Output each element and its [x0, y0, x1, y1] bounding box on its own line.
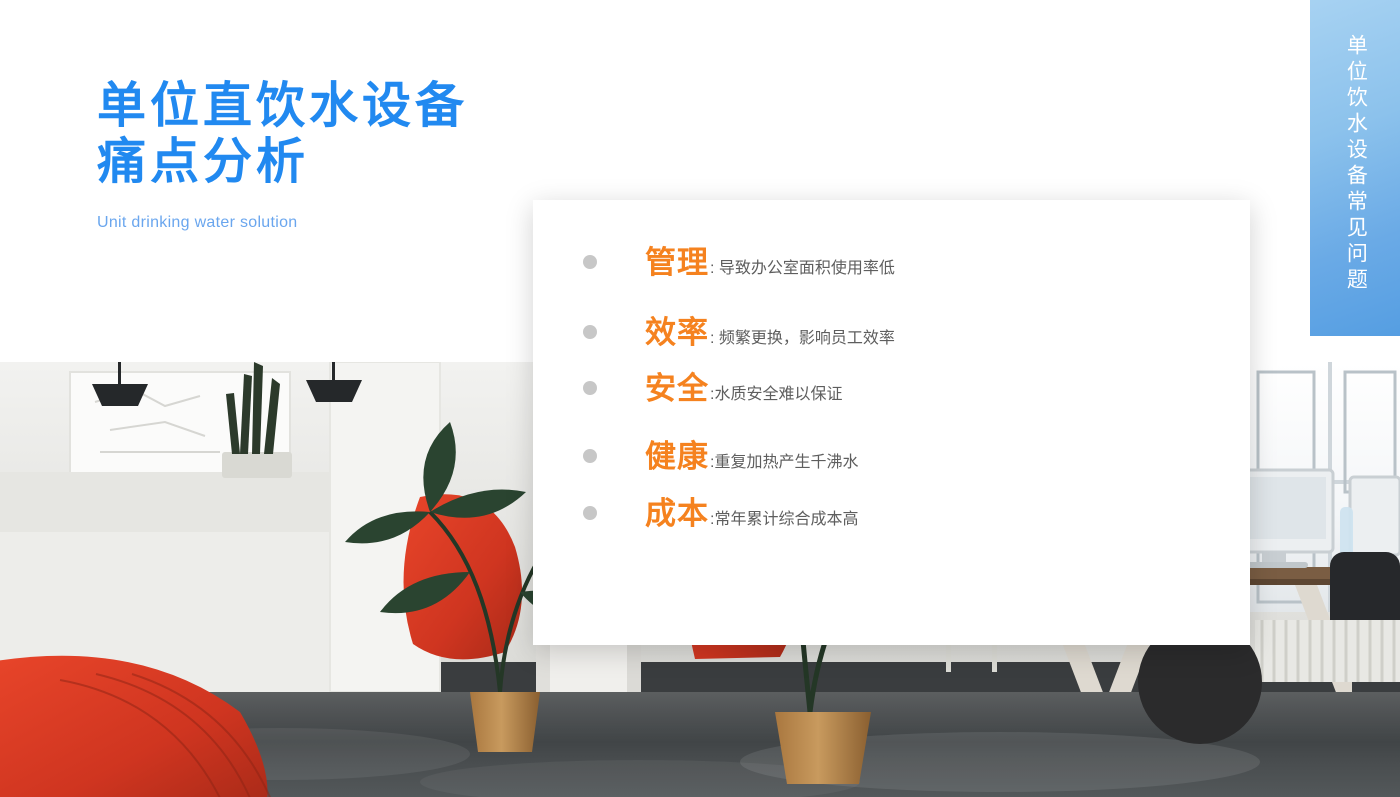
pain-point-desc: :重复加热产生千沸水: [710, 455, 858, 471]
pain-point-desc: : 导致办公室面积使用率低: [710, 261, 895, 277]
bullet-dot-icon: [583, 506, 597, 520]
pain-points-card: 管理 : 导致办公室面积使用率低 效率 : 频繁更换，影响员工效率 安全 :水质…: [533, 200, 1250, 645]
pain-point-label: 安全: [645, 373, 709, 404]
page-subtitle: Unit drinking water solution: [97, 214, 617, 232]
page-title-line-1: 单位直饮水设备: [97, 78, 617, 134]
list-item[interactable]: 管理 : 导致办公室面积使用率低: [583, 247, 895, 278]
pain-point-desc: :水质安全难以保证: [710, 387, 842, 403]
pain-point-label: 成本: [645, 498, 709, 529]
bullet-dot-icon: [583, 255, 597, 269]
title-block: 单位直饮水设备 痛点分析 Unit drinking water solutio…: [97, 78, 617, 232]
side-tab[interactable]: 单位饮水设备常见问题: [1310, 0, 1400, 336]
bullet-dot-icon: [583, 381, 597, 395]
list-item[interactable]: 健康 :重复加热产生千沸水: [583, 441, 858, 472]
pain-point-label: 健康: [645, 441, 709, 472]
pain-point-label: 管理: [645, 247, 709, 278]
pain-point-label: 效率: [645, 317, 709, 348]
pain-points-list: 管理 : 导致办公室面积使用率低 效率 : 频繁更换，影响员工效率 安全 :水质…: [533, 200, 1250, 645]
slide-canvas: 管理 : 导致办公室面积使用率低 效率 : 频繁更换，影响员工效率 安全 :水质…: [0, 0, 1400, 797]
list-item[interactable]: 成本 :常年累计综合成本高: [583, 498, 858, 529]
side-tab-label: 单位饮水设备常见问题: [1344, 34, 1367, 294]
bullet-dot-icon: [583, 325, 597, 339]
pain-point-desc: :常年累计综合成本高: [710, 512, 858, 528]
page-title-line-2: 痛点分析: [97, 134, 617, 190]
pain-point-desc: : 频繁更换，影响员工效率: [710, 331, 895, 347]
list-item[interactable]: 效率 : 频繁更换，影响员工效率: [583, 317, 895, 348]
bullet-dot-icon: [583, 449, 597, 463]
list-item[interactable]: 安全 :水质安全难以保证: [583, 373, 842, 404]
